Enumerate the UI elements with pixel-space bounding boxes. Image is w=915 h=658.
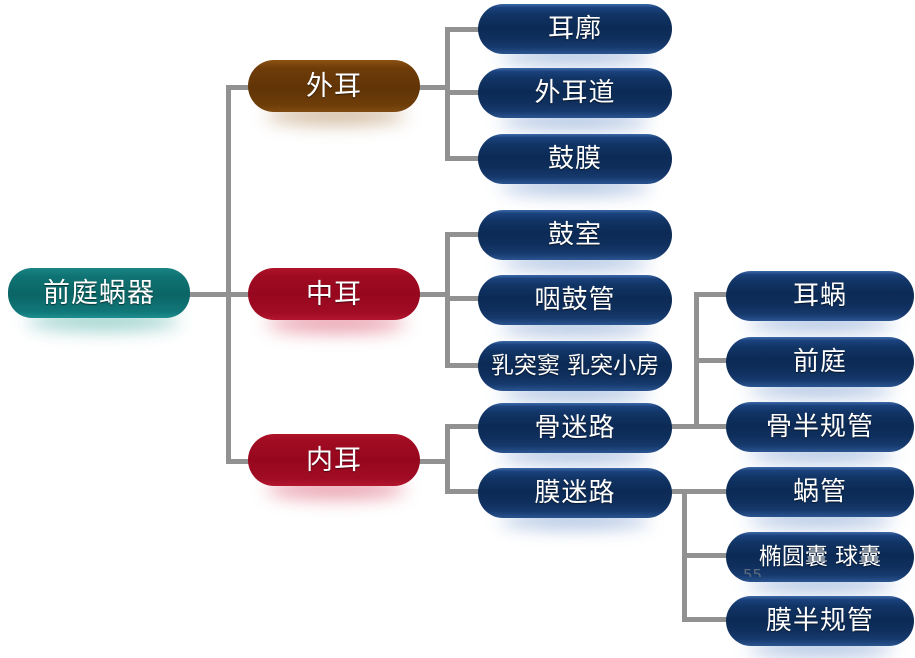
node-vestibule[interactable]: 前庭	[726, 337, 914, 387]
connector-membranous-child-2	[682, 553, 730, 558]
node-label: 膜半规管	[766, 608, 874, 634]
node-label: 骨半规管	[766, 414, 874, 440]
connector-membranous-labyrinth-stub	[666, 489, 726, 494]
node-cochlea[interactable]: 耳蜗	[726, 271, 914, 321]
node-bony-labyrinth[interactable]: 骨迷路	[478, 403, 672, 453]
node-label: 骨迷路	[534, 415, 615, 441]
node-membranous-labyrinth[interactable]: 膜迷路	[478, 468, 672, 518]
node-label: 中耳	[306, 281, 362, 308]
diagram-canvas: 前庭蜗器 外耳 中耳 内耳 耳廓 外耳道 鼓膜 鼓室 咽鼓管 乳突窦 乳突小房 …	[0, 0, 915, 658]
artifact-text: 55	[743, 568, 762, 577]
node-label: 前庭蜗器	[43, 280, 155, 307]
node-membranous-semicircular-ducts[interactable]: 膜半规管	[726, 596, 914, 646]
node-external-acoustic-meatus[interactable]: 外耳道	[478, 68, 672, 118]
node-bony-semicircular-canals[interactable]: 骨半规管	[726, 402, 914, 452]
node-label: 外耳道	[534, 80, 615, 106]
node-label: 耳蜗	[793, 283, 847, 309]
node-label: 鼓室	[548, 222, 602, 248]
connector-bony-child-2	[694, 358, 730, 363]
clipped-glyph-artifact: 55	[743, 568, 762, 577]
connector-membranous-child-3	[682, 617, 730, 622]
node-tympanic-cavity[interactable]: 鼓室	[478, 210, 672, 260]
node-root-vestibulocochlear-organ[interactable]: 前庭蜗器	[8, 268, 190, 318]
node-label: 椭圆囊 球囊	[759, 546, 881, 569]
node-cochlear-duct[interactable]: 蜗管	[726, 467, 914, 517]
node-middle-ear[interactable]: 中耳	[248, 268, 420, 320]
connector-trunk-vertical	[226, 85, 231, 464]
node-label: 外耳	[306, 73, 362, 100]
node-label: 内耳	[306, 447, 362, 474]
connector-inner-ear-vertical	[445, 424, 450, 494]
node-label: 咽鼓管	[534, 287, 615, 313]
node-label: 蜗管	[793, 479, 847, 505]
node-label: 鼓膜	[548, 146, 602, 172]
node-mastoid-antrum-and-cells[interactable]: 乳突窦 乳突小房	[478, 341, 672, 391]
node-label: 前庭	[793, 349, 847, 375]
node-outer-ear[interactable]: 外耳	[248, 60, 420, 112]
connector-bony-child-1	[694, 292, 730, 297]
node-label: 耳廓	[548, 16, 602, 42]
node-auricle[interactable]: 耳廓	[478, 4, 672, 54]
node-tympanic-membrane[interactable]: 鼓膜	[478, 134, 672, 184]
node-inner-ear[interactable]: 内耳	[248, 434, 420, 486]
node-label: 乳突窦 乳突小房	[491, 355, 659, 378]
node-pharyngotympanic-tube[interactable]: 咽鼓管	[478, 275, 672, 325]
node-label: 膜迷路	[534, 480, 615, 506]
